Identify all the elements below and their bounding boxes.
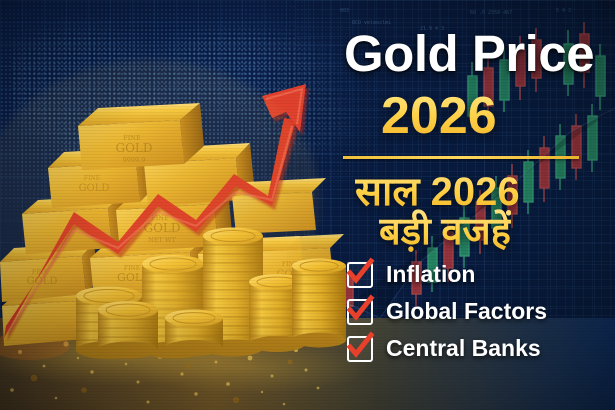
list-item[interactable]: Inflation — [347, 258, 615, 291]
list-item-label: Central Banks — [386, 335, 541, 362]
list-item[interactable]: Global Factors — [347, 295, 615, 328]
list-item-label: Inflation — [386, 261, 475, 288]
page-title: Gold Price — [344, 24, 594, 83]
list-item[interactable]: Central Banks — [347, 332, 615, 365]
list-item-label: Global Factors — [386, 298, 547, 325]
text-panel: Gold Price 2026 साल 2026 बड़ी वजहें Infl… — [335, 0, 615, 410]
check-mark-icon — [346, 332, 374, 360]
gold-divider — [343, 156, 579, 159]
checkbox-checked-icon[interactable] — [347, 299, 373, 325]
check-mark-icon — [346, 258, 374, 286]
poster-canvas: 60 .6 2558 467 5 4 3 8CO veleoclmi 21.9 … — [0, 0, 615, 410]
checkbox-checked-icon[interactable] — [347, 262, 373, 288]
check-mark-icon — [346, 295, 374, 323]
subheading-hindi-line2: बड़ी वजहें — [379, 204, 511, 256]
checklist: Inflation Global Factors Central Banks — [347, 258, 615, 369]
checkbox-checked-icon[interactable] — [347, 336, 373, 362]
headline-year: 2026 — [381, 86, 497, 146]
